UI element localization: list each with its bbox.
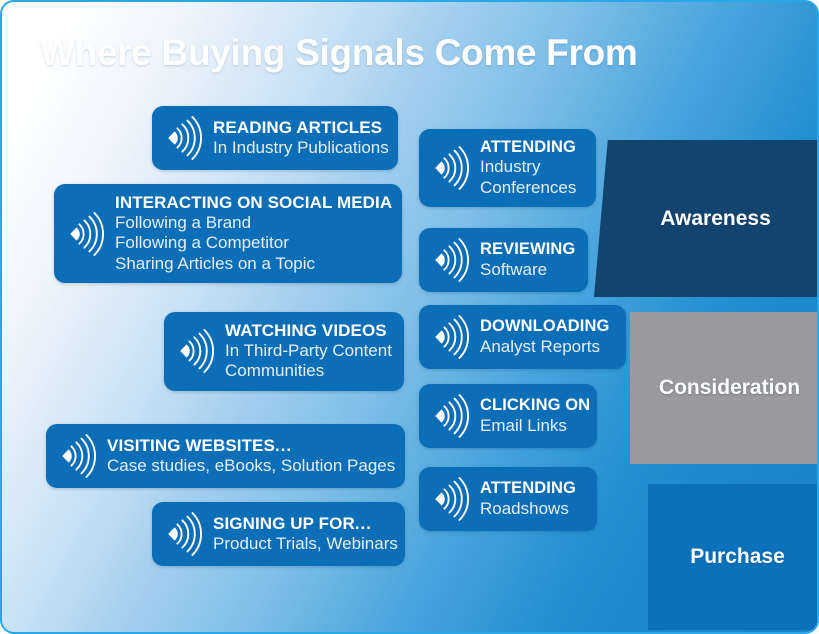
signal-card-text: WATCHING VIDEOS In Third-Party Content C… <box>225 321 392 382</box>
signal-card-title: REVIEWING <box>480 240 575 259</box>
signal-card-text: ATTENDING Roadshows <box>480 479 576 519</box>
signal-card-line: Sharing Articles on a Topic <box>115 254 392 274</box>
signal-card-text: ATTENDING Industry Conferences <box>480 138 576 198</box>
signal-card-line: Roadshows <box>480 499 576 519</box>
signal-card-line: Analyst Reports <box>480 337 609 357</box>
stage-band-awareness: Awareness <box>594 140 819 297</box>
signal-card-text: DOWNLOADING Analyst Reports <box>480 317 609 357</box>
signal-wave-icon <box>162 115 204 161</box>
signal-card-text: READING ARTICLES In Industry Publication… <box>213 118 389 158</box>
signal-card-line: Following a Competitor <box>115 233 392 253</box>
signal-wave-icon <box>56 433 98 479</box>
signal-card-text: REVIEWING Software <box>480 240 575 280</box>
stage-band-purchase: Purchase <box>648 484 819 630</box>
signal-card-title: INTERACTING ON SOCIAL MEDIA <box>115 193 392 213</box>
signal-wave-icon <box>429 314 471 360</box>
signal-wave-icon <box>429 393 471 439</box>
signal-card-title: WATCHING VIDEOS <box>225 321 392 341</box>
stage-band-consideration: Consideration <box>630 312 819 464</box>
signal-card-text: VISITING WEBSITES... Case studies, eBook… <box>107 436 395 476</box>
signal-card-signing-up-for[interactable]: SIGNING UP FOR... Product Trials, Webina… <box>152 502 405 566</box>
signal-card-reading-articles[interactable]: READING ARTICLES In Industry Publication… <box>152 106 398 170</box>
signal-card-downloading-analyst-reports[interactable]: DOWNLOADING Analyst Reports <box>419 305 626 369</box>
signal-card-title: VISITING WEBSITES... <box>107 436 395 456</box>
signal-card-line: In Third-Party Content <box>225 341 392 361</box>
signal-wave-icon <box>64 211 106 257</box>
signal-card-title: SIGNING UP FOR... <box>213 514 398 534</box>
signal-wave-icon <box>429 237 471 283</box>
signal-card-line: Product Trials, Webinars <box>213 534 398 554</box>
signal-card-line: Email Links <box>480 416 590 436</box>
signal-card-clicking-on-email-links[interactable]: CLICKING ON Email Links <box>419 384 597 448</box>
stage-label-purchase: Purchase <box>690 545 785 569</box>
signal-card-attending-industry-conferences[interactable]: ATTENDING Industry Conferences <box>419 129 596 207</box>
signal-card-line: Conferences <box>480 178 576 198</box>
signal-card-line: In Industry Publications <box>213 138 389 158</box>
signal-card-title: ATTENDING <box>480 479 576 498</box>
signal-card-title: CLICKING ON <box>480 396 590 415</box>
signal-wave-icon <box>174 328 216 374</box>
signal-card-title: DOWNLOADING <box>480 317 609 336</box>
signal-card-text: SIGNING UP FOR... Product Trials, Webina… <box>213 514 398 554</box>
signal-card-title: READING ARTICLES <box>213 118 389 138</box>
stage-label-awareness: Awareness <box>660 207 771 231</box>
signal-wave-icon <box>429 476 471 522</box>
signal-card-title: ATTENDING <box>480 138 576 157</box>
signal-card-text: CLICKING ON Email Links <box>480 396 590 436</box>
signal-card-line: Software <box>480 260 575 280</box>
signal-card-line: Case studies, eBooks, Solution Pages <box>107 456 395 476</box>
signal-card-visiting-websites[interactable]: VISITING WEBSITES... Case studies, eBook… <box>46 424 405 488</box>
signal-card-watching-videos[interactable]: WATCHING VIDEOS In Third-Party Content C… <box>164 312 404 391</box>
signal-wave-icon <box>429 145 471 191</box>
signal-card-line: Industry <box>480 157 576 177</box>
signal-wave-icon <box>162 511 204 557</box>
stage-label-consideration: Consideration <box>659 376 800 400</box>
buying-signals-infographic: Where Buying Signals Come From Awareness… <box>0 0 819 634</box>
signal-card-attending-roadshows[interactable]: ATTENDING Roadshows <box>419 467 597 531</box>
signal-card-line: Communities <box>225 361 392 381</box>
signal-card-text: INTERACTING ON SOCIAL MEDIA Following a … <box>115 193 392 274</box>
signal-card-interacting-on-social-media[interactable]: INTERACTING ON SOCIAL MEDIA Following a … <box>54 184 402 283</box>
page-title: Where Buying Signals Come From <box>40 32 637 74</box>
signal-card-reviewing-software[interactable]: REVIEWING Software <box>419 228 588 292</box>
signal-card-line: Following a Brand <box>115 213 392 233</box>
